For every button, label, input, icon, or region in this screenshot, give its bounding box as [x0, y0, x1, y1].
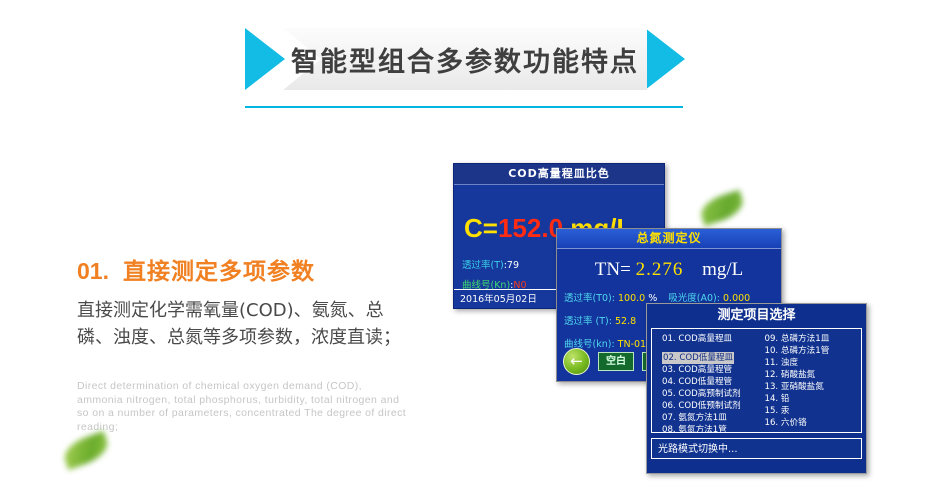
measure-item-column-left: 01. COD高量程皿02. COD低量程皿03. COD高量程管04. COD… — [652, 333, 759, 432]
measure-item-select-screen: 测定项目选择 01. COD高量程皿02. COD低量程皿03. COD高量程管… — [646, 303, 867, 474]
tn-t-label: 透过率 (T) — [564, 316, 609, 327]
cod-value-prefix: C= — [464, 213, 498, 243]
tn-value-label: TN= — [595, 259, 631, 280]
measure-item-row[interactable]: 02. COD低量程皿 — [662, 345, 759, 364]
banner-underline — [245, 106, 683, 108]
measure-item[interactable]: 11. 浊度 — [765, 357, 862, 369]
cod-transmittance-value: 79 — [507, 260, 519, 271]
measure-item-row[interactable]: 03. COD高量程管 — [662, 364, 759, 376]
measure-item-row[interactable]: 04. COD低量程管 — [662, 376, 759, 388]
measure-item[interactable]: 03. COD高量程管 — [662, 364, 759, 376]
measure-item[interactable]: 06. COD低预制试剂 — [662, 400, 759, 412]
measure-item[interactable]: 15. 汞 — [765, 405, 862, 417]
tn-row-separator: : — [609, 316, 612, 327]
tn-reading: TN= 2.276 mg/L — [557, 259, 781, 281]
measure-item[interactable]: 07. 氨氮方法1皿 — [662, 412, 759, 424]
measure-item-row[interactable]: 06. COD低预制试剂 — [662, 400, 759, 412]
section-header: 01. 直接测定多项参数 — [77, 252, 315, 286]
measure-item-row[interactable]: 07. 氨氮方法1皿 — [662, 412, 759, 424]
cod-curve-label: 曲线号(Kn) — [462, 280, 510, 291]
page-title: 智能型组合多参数功能特点 — [245, 28, 685, 90]
cod-screen-title: COD高量程皿比色 — [454, 164, 664, 185]
measure-item-row[interactable]: 08. 氨氮方法1管 — [662, 424, 759, 436]
section-number: 01. — [77, 258, 109, 285]
measure-item[interactable]: 13. 亚硝酸盐氮 — [765, 381, 862, 393]
measure-item[interactable]: 09. 总磷方法1皿 — [765, 333, 862, 345]
tn-screen-title: 总氮测定仪 — [557, 229, 781, 249]
measure-item-listbox[interactable]: 01. COD高量程皿02. COD低量程皿03. COD高量程管04. COD… — [651, 328, 862, 433]
section-heading: 直接测定多项参数 — [123, 252, 315, 286]
tn-value: 2.276 — [636, 259, 684, 280]
back-arrow-icon[interactable]: ← — [563, 348, 590, 375]
measure-item-row[interactable]: 01. COD高量程皿 — [662, 333, 759, 345]
measure-item[interactable]: 01. COD高量程皿 — [662, 333, 759, 345]
measure-item[interactable]: 08. 氨氮方法1管 — [662, 424, 759, 436]
status-bar: 光路模式切换中... — [651, 438, 862, 459]
page-banner: 智能型组合多参数功能特点 — [245, 28, 685, 90]
cod-curve-value: N0 — [513, 280, 526, 291]
tn-transmittance-t0-row: 透过率(T0): 100.0 % 吸光度(A0): 0.000 — [564, 290, 781, 304]
tn-t0-label: 透过率(T0) — [564, 293, 612, 304]
blank-button[interactable]: 空白 — [598, 352, 634, 371]
measure-item[interactable]: 05. COD高预制试剂 — [662, 388, 759, 400]
cod-value: 152.0 — [498, 213, 563, 243]
select-screen-title: 测定项目选择 — [647, 304, 866, 328]
tn-unit: mg/L — [702, 259, 743, 280]
leaf-icon — [697, 190, 746, 226]
measure-item[interactable]: 16. 六价铬 — [765, 417, 862, 429]
section-body-english: Direct determination of chemical oxygen … — [77, 380, 407, 434]
measure-item[interactable]: 14. 铅 — [765, 393, 862, 405]
tn-t-value: 52.8 — [615, 316, 636, 327]
section-body-chinese: 直接测定化学需氧量(COD)、氨氮、总磷、浊度、总氮等多项参数，浓度直读； — [77, 297, 412, 351]
tn-t0-value: 100.0 — [618, 293, 645, 304]
cod-curve-row: 曲线号(Kn):N0 — [462, 277, 527, 291]
measure-item-row[interactable]: 05. COD高预制试剂 — [662, 388, 759, 400]
measure-item[interactable]: 12. 硝酸盐氮 — [765, 369, 862, 381]
measure-item[interactable]: 02. COD低量程皿 — [662, 352, 734, 364]
tn-row-separator: : — [612, 293, 615, 304]
cod-transmittance-label: 透过率(T) — [462, 260, 504, 271]
leaf-icon — [60, 431, 112, 470]
cod-transmittance-row: 透过率(T):79 — [462, 257, 519, 271]
measure-item[interactable]: 04. COD低量程管 — [662, 376, 759, 388]
measure-item[interactable]: 10. 总磷方法1管 — [765, 345, 862, 357]
measure-item-column-right: 09. 总磷方法1皿10. 总磷方法1管11. 浊度12. 硝酸盐氮13. 亚硝… — [759, 333, 862, 432]
